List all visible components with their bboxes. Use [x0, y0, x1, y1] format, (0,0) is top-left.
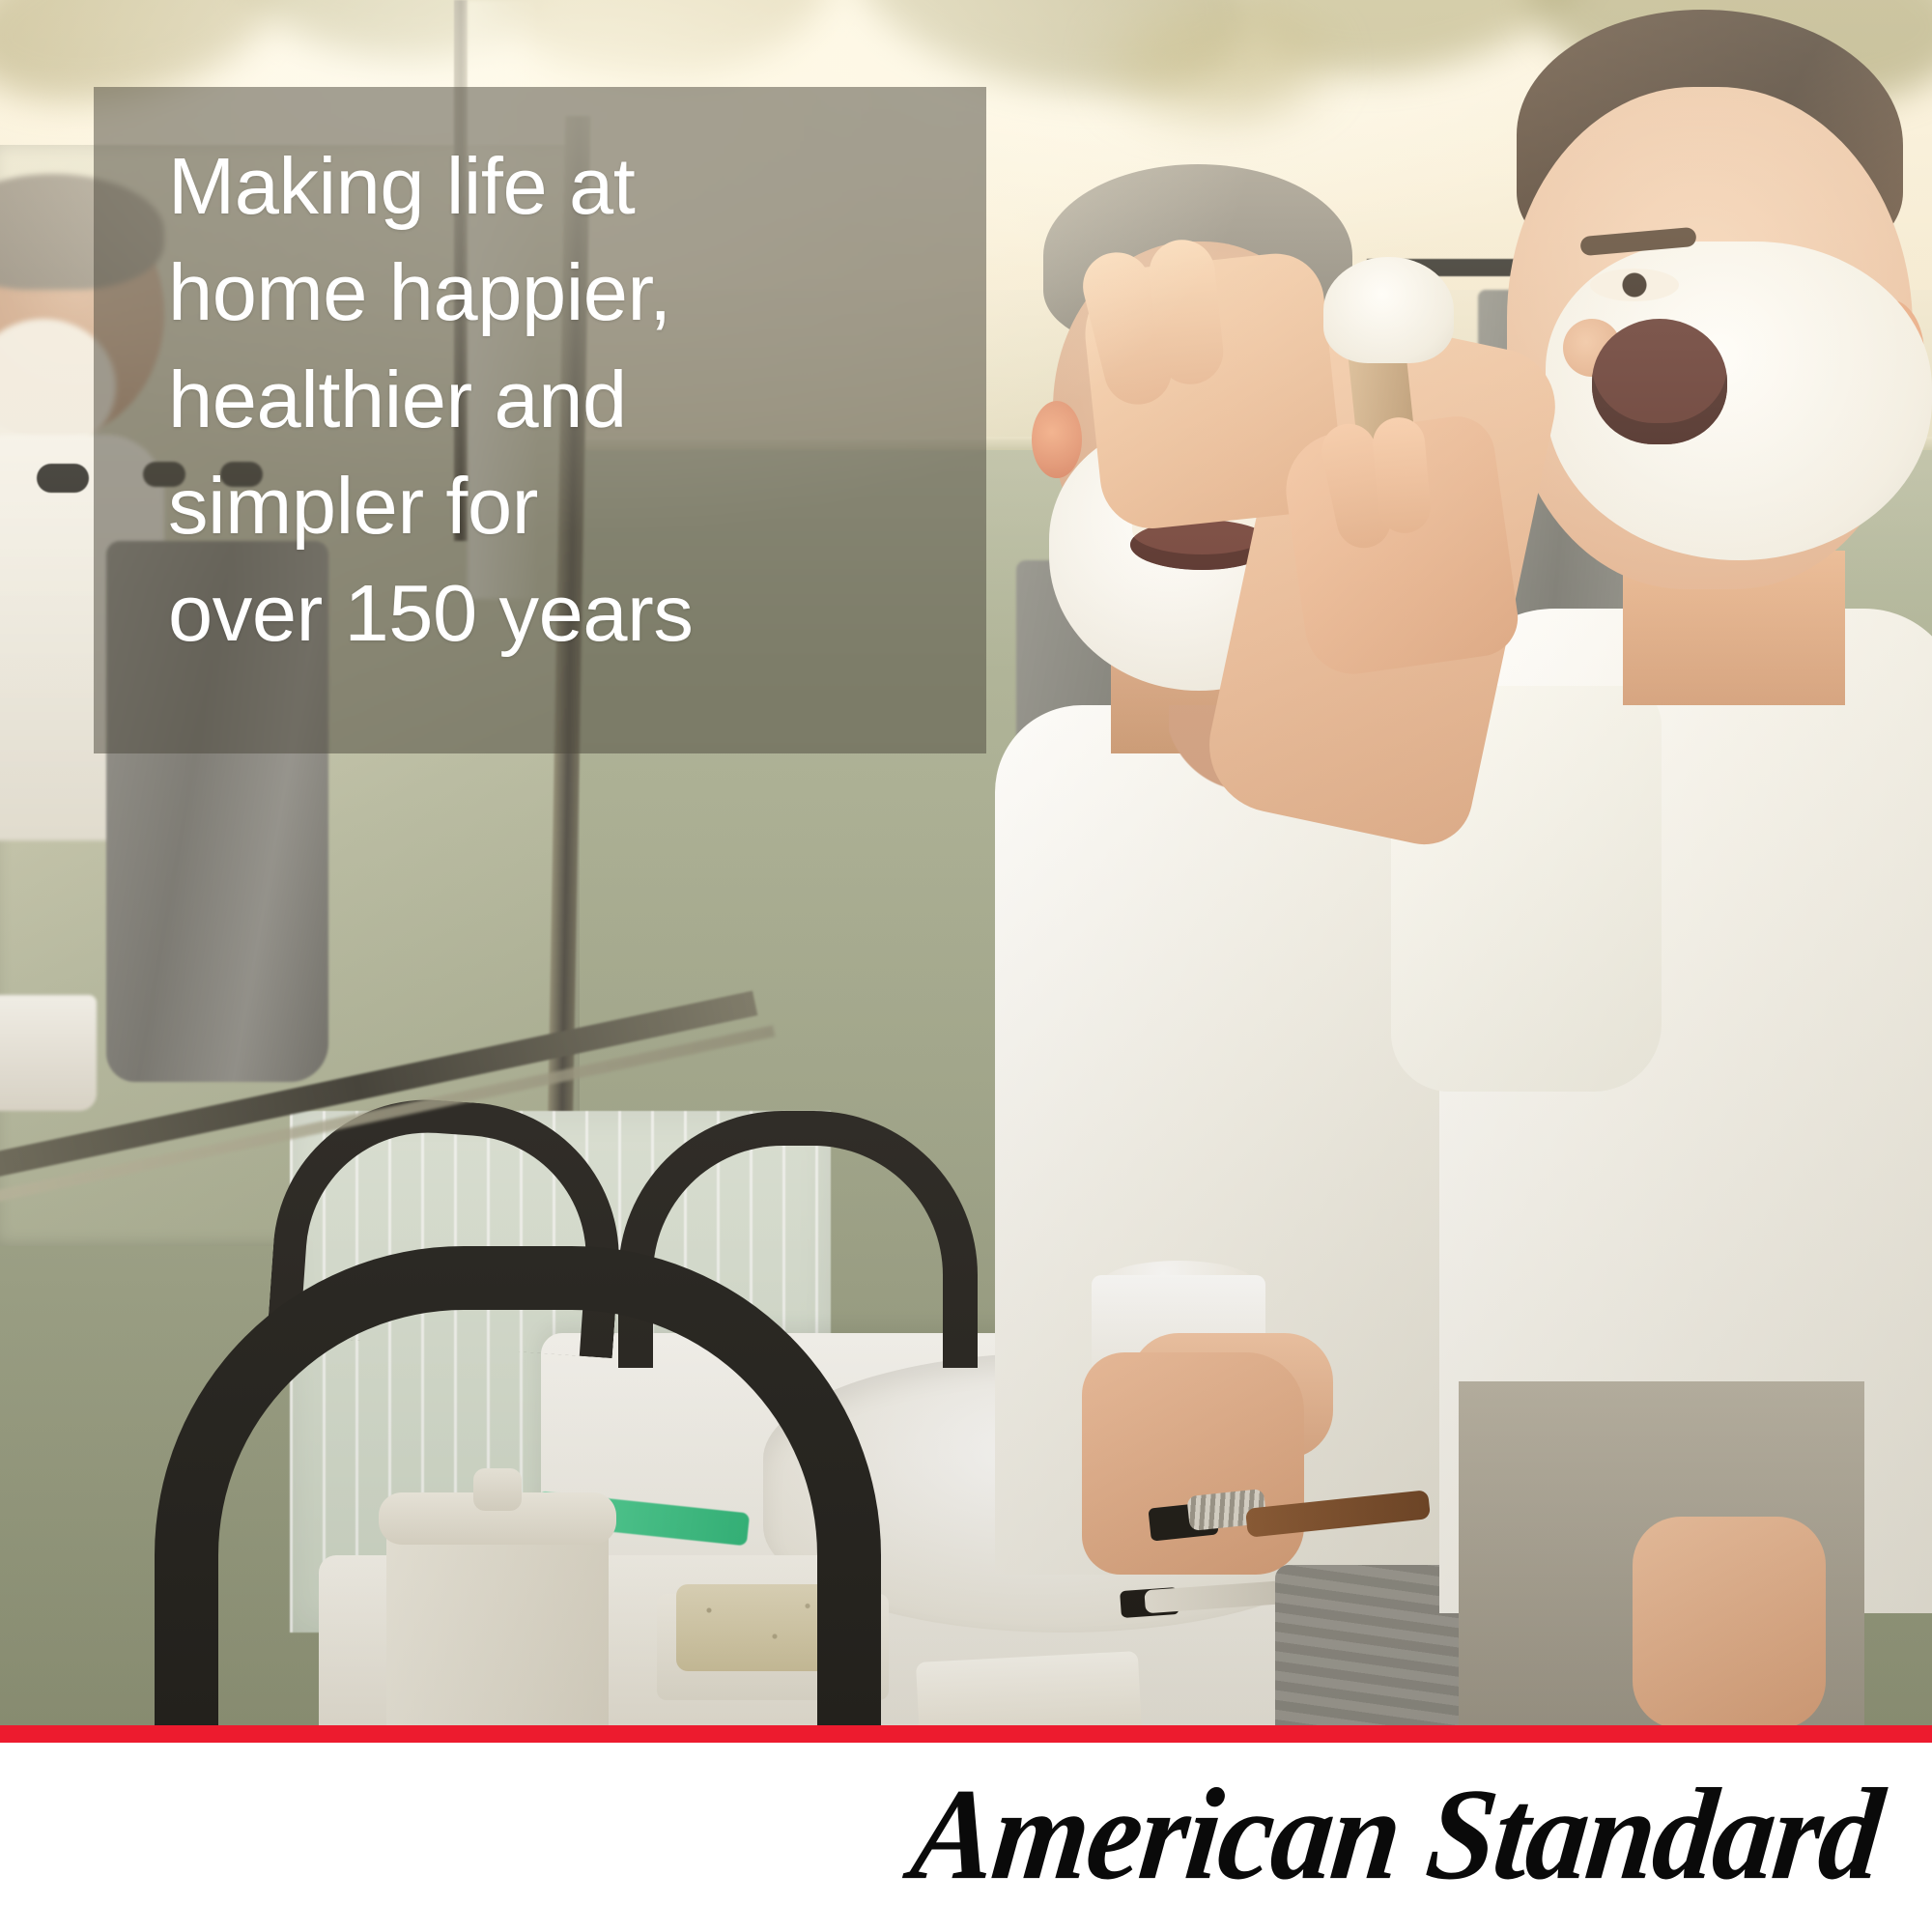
hero-photo: Making life at home happier, healthier a…	[0, 0, 1932, 1725]
headline-text: Making life at home happier, healthier a…	[168, 133, 970, 667]
foliage-blur	[1111, 10, 1323, 116]
american-standard-logo: American Standard	[905, 1759, 1888, 1910]
faucet-foreground	[155, 1246, 773, 1710]
boy-lower-hand	[1633, 1517, 1826, 1725]
toothpaste-tube	[916, 1651, 1142, 1725]
advertisement-canvas: Making life at home happier, healthier a…	[0, 0, 1932, 1932]
wall-hook	[37, 464, 89, 493]
shaving-brush-bristles	[1323, 257, 1454, 363]
brand-accent-rule	[0, 1725, 1932, 1743]
mirrored-cup	[0, 995, 97, 1111]
headline-line-5: over 150 years	[168, 560, 970, 667]
headline-line-3: healthier and	[168, 347, 970, 453]
headline-line-4: simpler for	[168, 453, 970, 559]
headline-overlay-panel: Making life at home happier, healthier a…	[94, 87, 986, 753]
headline-line-1: Making life at	[168, 133, 970, 240]
headline-line-2: home happier,	[168, 240, 970, 346]
brand-footer: American Standard	[0, 1743, 1932, 1932]
boy-eye	[1590, 269, 1679, 301]
shaving-brush-group	[985, 164, 1526, 1536]
boy-open-mouth	[1592, 319, 1727, 444]
